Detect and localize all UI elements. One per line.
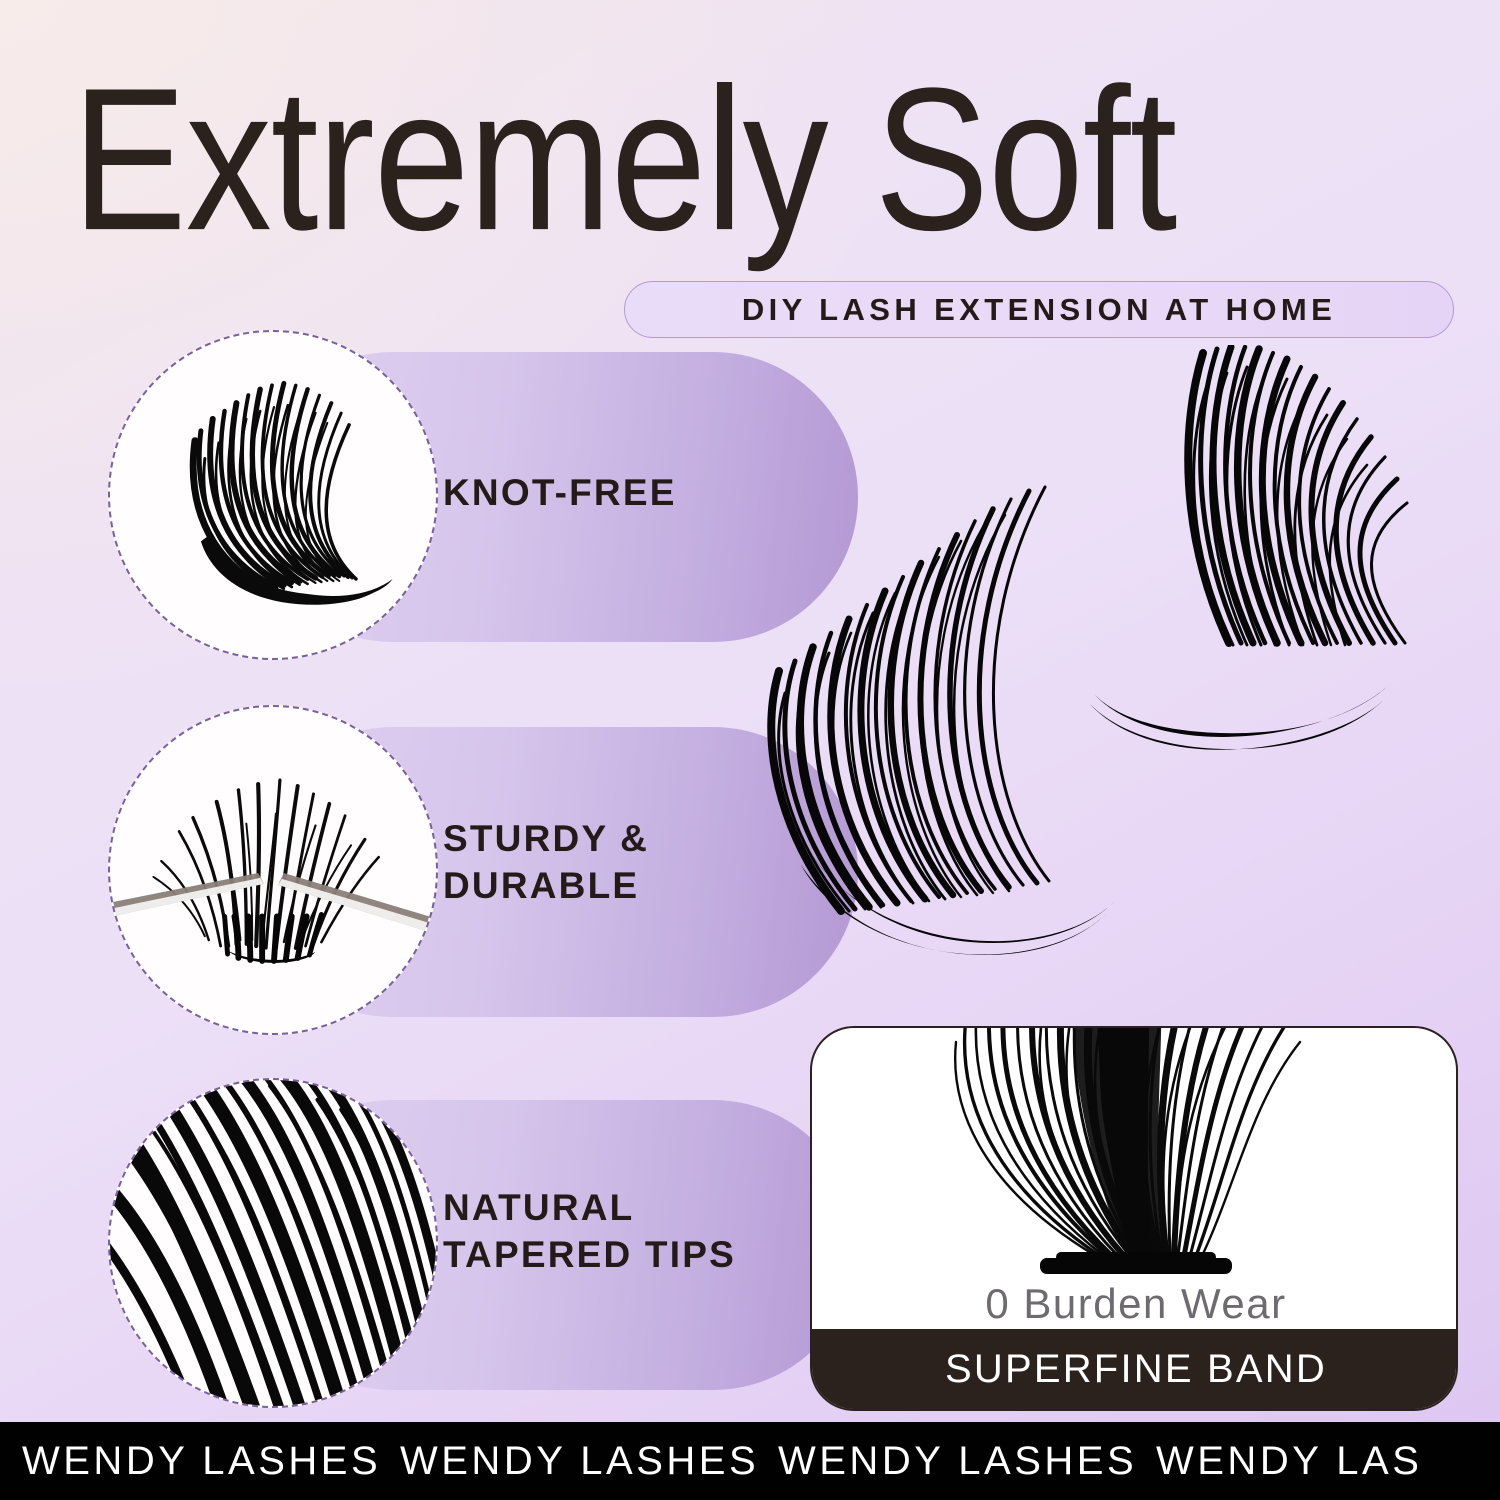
subtitle-banner: DIY LASH EXTENSION AT HOME: [624, 281, 1454, 338]
watermark-strip: WENDY LASHES WENDY LASHES WENDY LASHES W…: [0, 1422, 1500, 1500]
feature-image-natural-tapered-tips: [108, 1078, 438, 1408]
feature-label-sturdy-durable: STURDY & DURABLE: [443, 815, 823, 910]
two-lash-clusters-icon: [755, 345, 1475, 985]
hero-lash-image: [755, 345, 1475, 985]
feature-label-natural-tapered-tips: NATURAL TAPERED TIPS: [443, 1184, 823, 1279]
feature-label-line: STURDY &: [443, 815, 823, 862]
feature-label-line: DURABLE: [443, 862, 823, 909]
watermark-item: WENDY LAS: [1134, 1439, 1500, 1484]
watermark-item: WENDY LASHES: [756, 1439, 1134, 1484]
card-caption: 0 Burden Wear: [812, 1280, 1458, 1328]
superfine-band-card: 0 Burden Wear SUPERFINE BAND: [810, 1026, 1458, 1411]
page-title: Extremely Soft: [72, 58, 1472, 261]
card-lash-fan-image: [812, 1028, 1458, 1283]
tweezers-holding-lash-icon: [110, 707, 436, 1033]
subtitle-text: DIY LASH EXTENSION AT HOME: [742, 292, 1336, 328]
feature-label-line: TAPERED TIPS: [443, 1231, 823, 1278]
feature-label-knot-free: KNOT-FREE: [443, 469, 823, 516]
card-footer-bar: SUPERFINE BAND: [812, 1329, 1458, 1409]
card-footer-label: SUPERFINE BAND: [945, 1347, 1327, 1392]
feature-label-line: KNOT-FREE: [443, 469, 823, 516]
lash-cluster-curved-icon: [110, 332, 436, 658]
lash-macro-strands-icon: [110, 1080, 436, 1406]
lash-fan-on-band-icon: [812, 1028, 1458, 1283]
watermark-item: WENDY LASHES: [378, 1439, 756, 1484]
product-infographic: Extremely Soft DIY LASH EXTENSION AT HOM…: [0, 0, 1500, 1500]
watermark-item: WENDY LASHES: [0, 1439, 378, 1484]
feature-image-sturdy-durable: [108, 705, 438, 1035]
feature-image-knot-free: [108, 330, 438, 660]
feature-label-line: NATURAL: [443, 1184, 823, 1231]
